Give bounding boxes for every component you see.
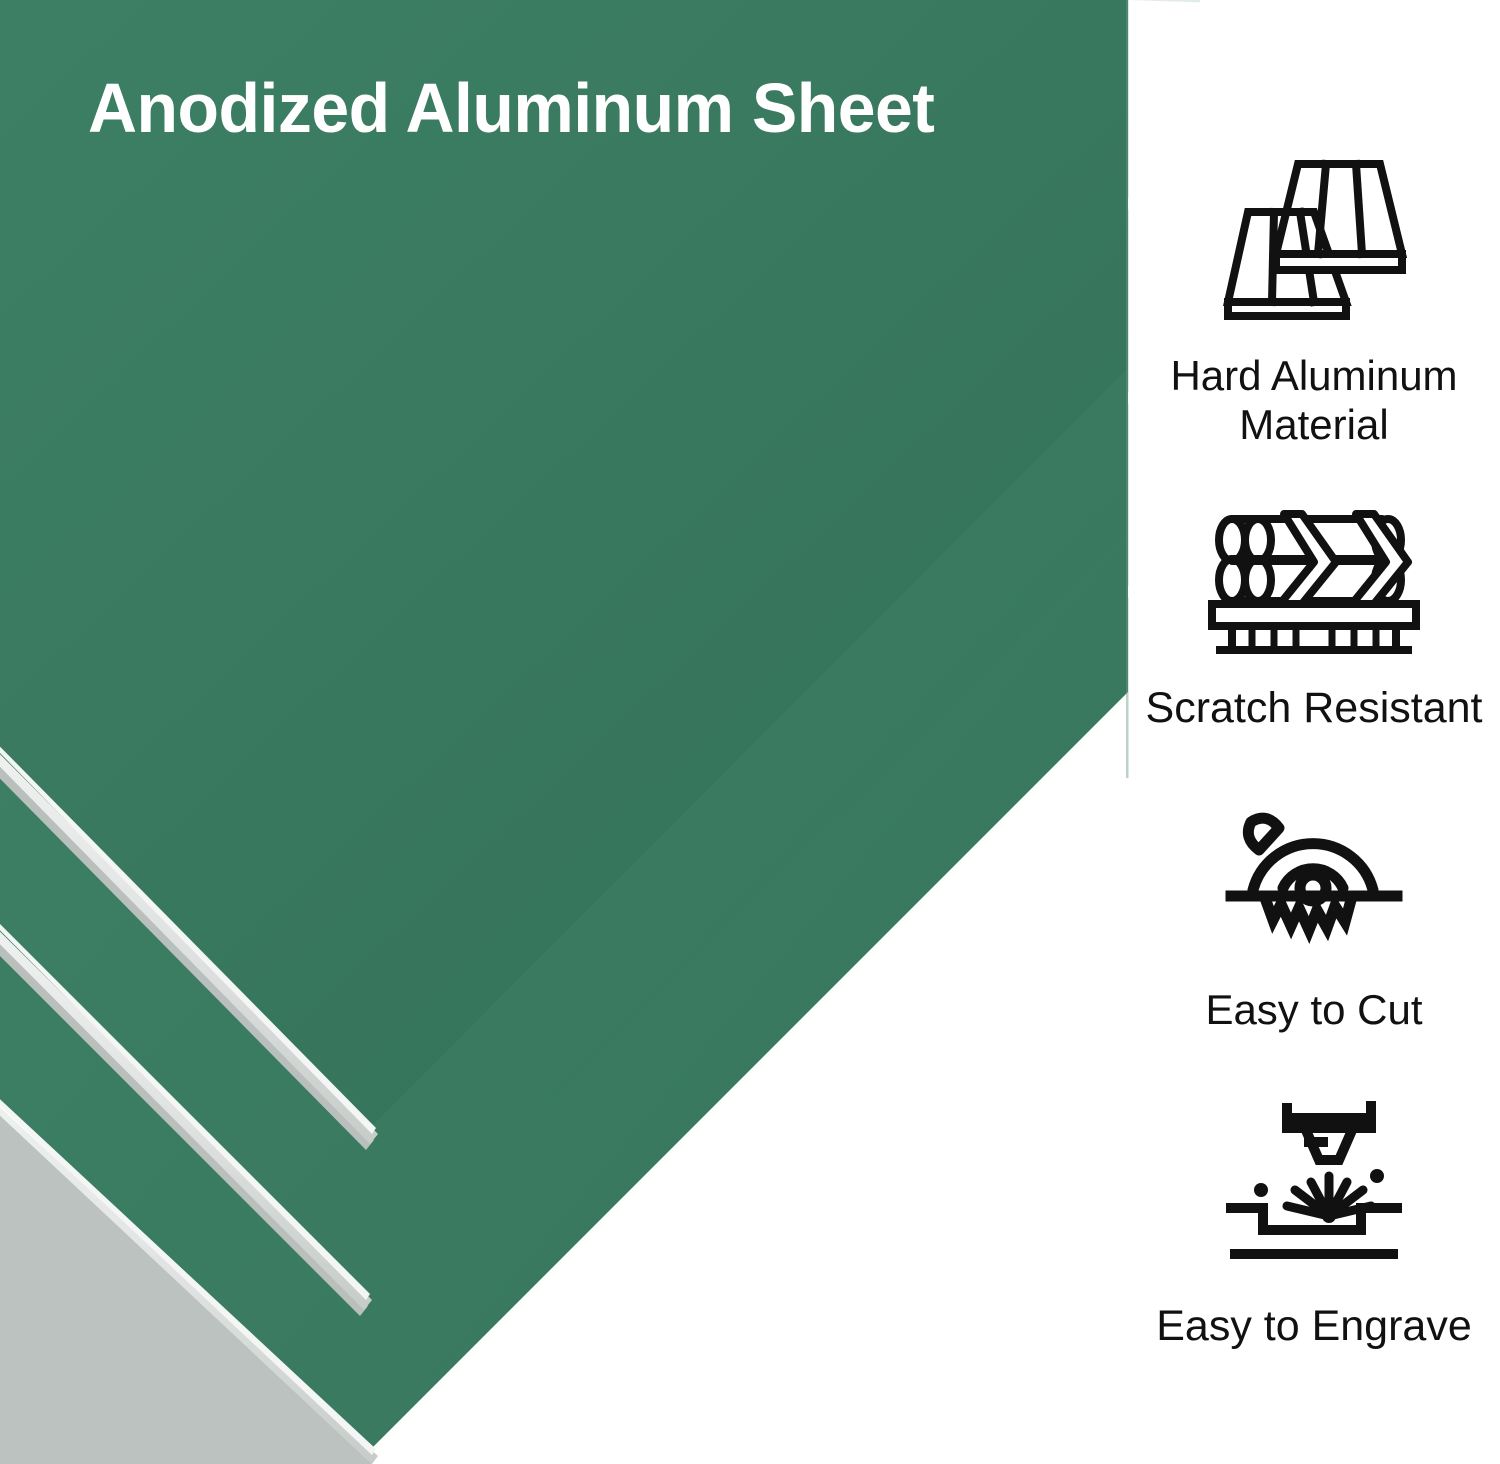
feature-item-easy-to-cut: Easy to Cut [1128,800,1500,1035]
feature-label-easy-to-engrave: Easy to Engrave [1156,1302,1472,1352]
circular-saw-icon [1221,800,1407,956]
laser-engraver-icon [1221,1098,1407,1268]
metal-profiles-rack-icon [1206,500,1422,662]
feature-label-hard-aluminum-material: Hard Aluminum Material [1170,352,1457,449]
feature-label-easy-to-cut: Easy to Cut [1205,986,1422,1035]
feature-item-easy-to-engrave: Easy to Engrave [1128,1098,1500,1352]
stacked-metal-sheets-icon [1214,150,1414,322]
feature-label-scratch-resistant: Scratch Resistant [1146,684,1483,734]
feature-list: Hard Aluminum Material [1128,0,1500,1464]
feature-item-hard-aluminum-material: Hard Aluminum Material [1128,150,1500,449]
feature-item-scratch-resistant: Scratch Resistant [1128,500,1500,734]
product-infographic: Anodized Aluminum Sheet [0,0,1500,1464]
